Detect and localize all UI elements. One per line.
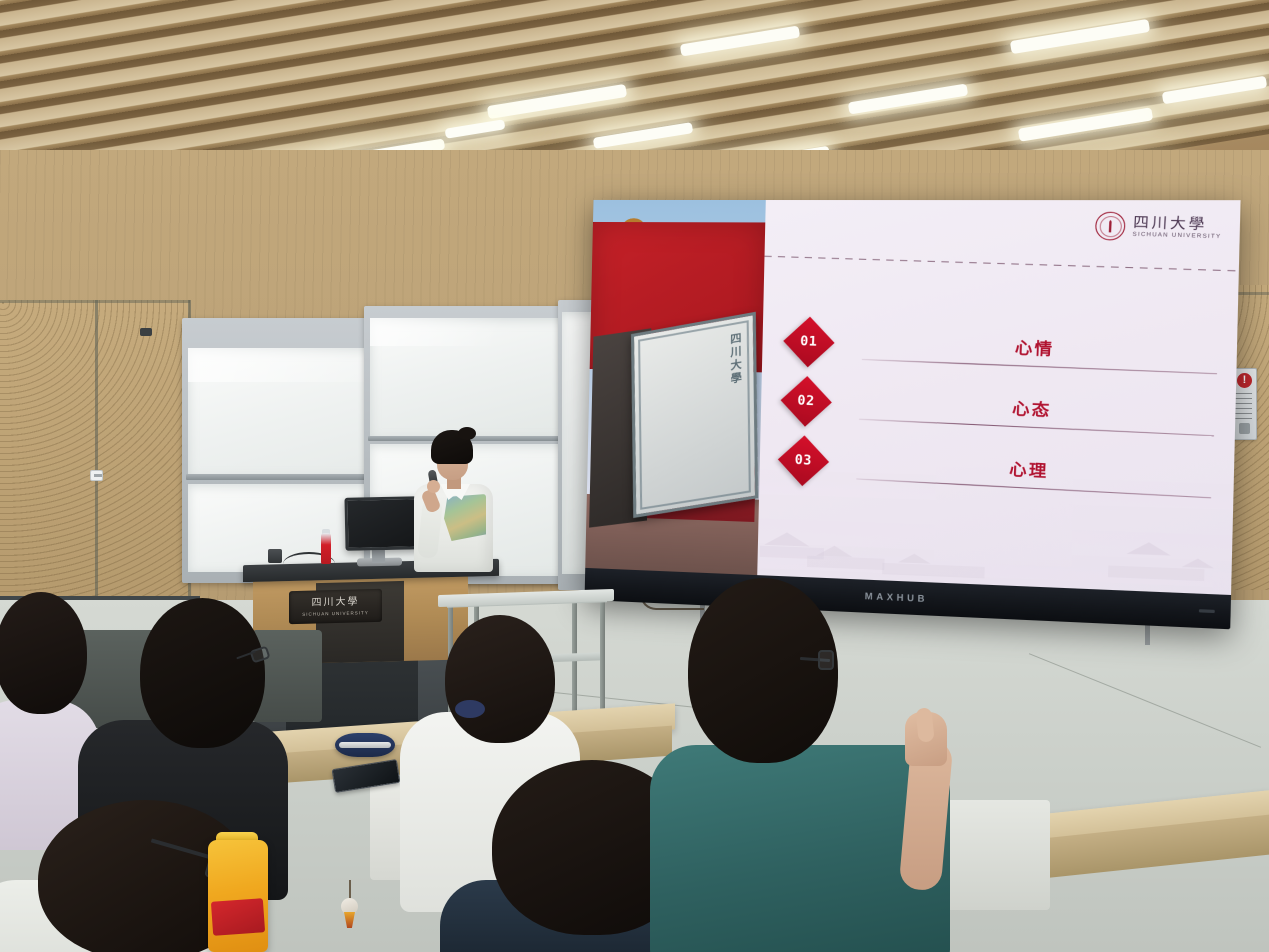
sichuan-university-logo: 四川大學 SICHUAN UNIVERSITY (1095, 211, 1223, 243)
university-name-cn: 四川大學 (1133, 215, 1223, 232)
agenda-item: 03 心理 (785, 442, 1209, 500)
watermark-roof (1127, 541, 1172, 555)
wall-seam (95, 300, 98, 600)
slide-header-divider (764, 256, 1238, 272)
ir-sensor-icon (1199, 609, 1215, 613)
university-name-en: SICHUAN UNIVERSITY (1132, 232, 1221, 240)
watermark-roof (764, 532, 810, 547)
photo-campus-stele: 四川大學 (631, 312, 758, 518)
student-head (688, 578, 838, 763)
desktop-monitor[interactable] (344, 496, 423, 551)
presenter-hand (427, 480, 440, 493)
agenda-number-badge: 02 (781, 376, 832, 427)
warning-icon: ! (1237, 373, 1252, 388)
chair-back (940, 800, 1050, 910)
watermark-base (759, 546, 823, 560)
hair-tie (455, 700, 485, 718)
wall-sensor (140, 328, 152, 336)
slide-content: 四川大學 SICHUAN UNIVERSITY 01 心情 (757, 200, 1241, 595)
agenda-number: 01 (800, 334, 818, 350)
display-screen[interactable]: 四川大學 四川大學 SICHUAN UNIVERSITY (585, 200, 1240, 595)
watermark-roof (816, 545, 853, 557)
seal-emblem-icon (1105, 220, 1116, 233)
podium-plate-en: SICHUAN UNIVERSITY (302, 610, 369, 617)
interactive-flat-panel[interactable]: 四川大學 四川大學 SICHUAN UNIVERSITY (585, 200, 1241, 629)
agenda-number-badge: 01 (783, 317, 834, 368)
water-bottle[interactable] (321, 533, 331, 564)
whiteboard-panel[interactable] (370, 318, 588, 438)
podium-control-unit[interactable] (268, 549, 282, 563)
watermark-base (807, 556, 885, 570)
snack-bottle-label (211, 898, 265, 936)
agenda-number-badge: 03 (778, 436, 829, 487)
student-head (0, 592, 87, 714)
podium-nameplate: 四川大學 SICHUAN UNIVERSITY (289, 589, 382, 624)
watermark-roof (1182, 558, 1214, 568)
university-seal-icon (1095, 211, 1126, 240)
pictogram-icon (1239, 423, 1250, 434)
eyeglasses-icon (818, 650, 834, 670)
agenda-text-block: 心情 (862, 328, 1214, 374)
agenda-number: 03 (795, 453, 813, 469)
agenda-item: 02 心态 (787, 383, 1211, 439)
podium-plate-cn: 四川大學 (312, 597, 360, 608)
watermark-base (882, 563, 985, 579)
student-head (445, 615, 555, 743)
pencil-case[interactable] (335, 733, 395, 757)
agenda-label: 心态 (860, 388, 1212, 429)
agenda-text-block: 心理 (856, 448, 1208, 499)
watermark-roof (898, 553, 931, 564)
watermark-base (1108, 565, 1204, 581)
student-head (140, 598, 265, 748)
university-name-block: 四川大學 SICHUAN UNIVERSITY (1132, 215, 1222, 240)
agenda-label: 心理 (857, 448, 1208, 491)
lecture-hall-photo: 安全须知 ! (0, 0, 1269, 952)
presenter-hair-bun (458, 427, 476, 440)
wall-seam (0, 300, 190, 303)
wall-outlet[interactable] (90, 470, 103, 481)
display-brand-label: MAXHUB (865, 591, 929, 604)
slide-agenda-list: 01 心情 02 心态 (785, 324, 1215, 501)
charm-string (349, 880, 351, 900)
agenda-item: 01 心情 (790, 324, 1214, 377)
whiteboard-rail (368, 436, 590, 441)
photo-stele-inscription: 四川大學 (646, 332, 743, 498)
agenda-number: 02 (797, 393, 815, 409)
presenter-shirt-print (444, 494, 486, 541)
agenda-text-block: 心态 (859, 388, 1211, 436)
bag-charm (341, 880, 359, 920)
slide-photo: 四川大學 (585, 200, 765, 575)
